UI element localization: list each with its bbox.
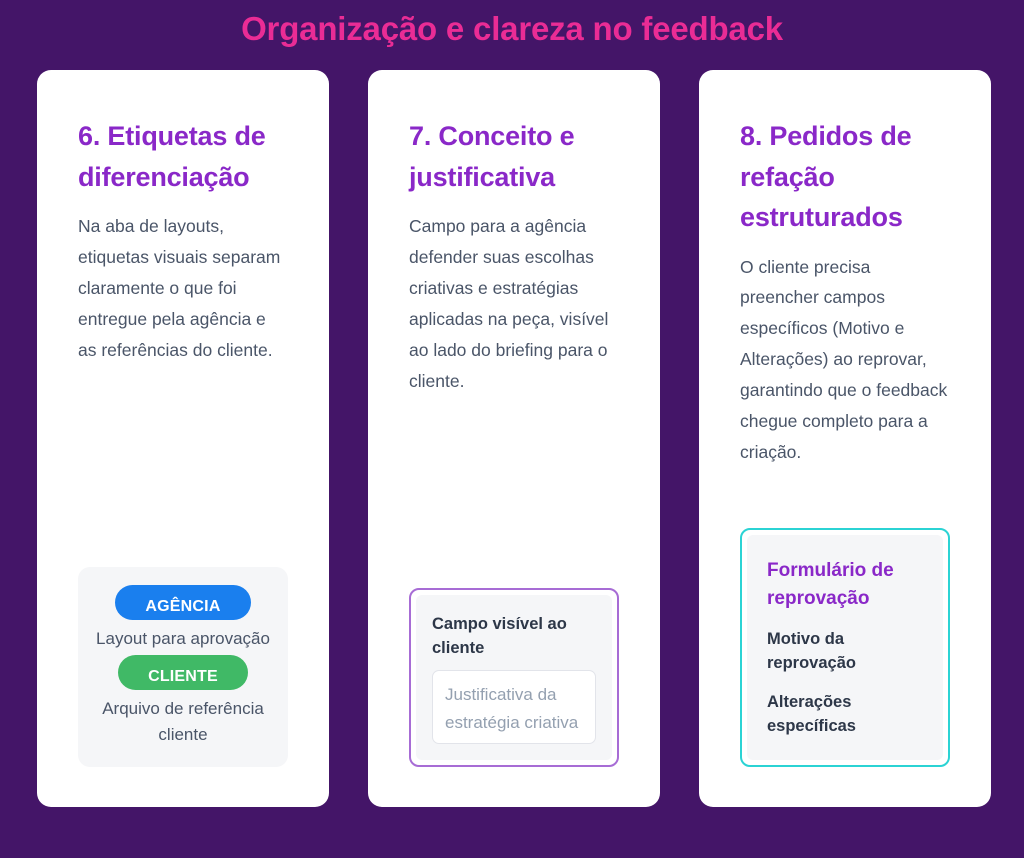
labels-demo-widget: AGÊNCIA Layout para aprovação CLIENTE Ar… <box>78 567 288 768</box>
rejection-form-inner: Formulário de reprovação Motivo da repro… <box>747 535 943 760</box>
cards-row: 6. Etiquetas de diferenciação Na aba de … <box>0 45 1024 807</box>
rejection-form-widget: Formulário de reprovação Motivo da repro… <box>740 528 950 767</box>
visible-field-label: Campo visível ao cliente <box>432 613 596 661</box>
card-pedidos-de-refacao-estruturados: 8. Pedidos de refação estruturados O cli… <box>699 70 991 807</box>
card-spacer <box>78 366 288 567</box>
rejection-form-field-alteracoes[interactable]: Alterações específicas <box>767 691 923 738</box>
visible-field-widget: Campo visível ao cliente Justificativa d… <box>409 588 619 767</box>
card-etiquetas-de-diferenciacao: 6. Etiquetas de diferenciação Na aba de … <box>37 70 329 807</box>
card-body: Campo para a agência defender suas escol… <box>409 211 619 397</box>
card-title: 7. Conceito e justificativa <box>409 116 619 197</box>
card-spacer <box>409 397 619 588</box>
agency-label-caption: Layout para aprovação <box>88 626 278 652</box>
card-title: 6. Etiquetas de diferenciação <box>78 116 288 197</box>
rejection-form-title: Formulário de reprovação <box>767 557 923 612</box>
card-title: 8. Pedidos de refação estruturados <box>740 116 950 238</box>
visible-field-inner: Campo visível ao cliente Justificativa d… <box>416 595 612 760</box>
client-label-caption: Arquivo de referência cliente <box>88 696 278 747</box>
page-title: Organização e clareza no feedback <box>0 0 1024 45</box>
card-conceito-e-justificativa: 7. Conceito e justificativa Campo para a… <box>368 70 660 807</box>
card-spacer <box>740 468 950 528</box>
client-label-pill[interactable]: CLIENTE <box>118 655 248 690</box>
rejection-form-field-motivo[interactable]: Motivo da reprovação <box>767 628 923 675</box>
justification-input[interactable]: Justificativa da estratégia criativa <box>432 670 596 744</box>
card-body: O cliente precisa preencher campos espec… <box>740 252 950 469</box>
agency-label-pill[interactable]: AGÊNCIA <box>115 585 250 620</box>
card-body: Na aba de layouts, etiquetas visuais sep… <box>78 211 288 366</box>
